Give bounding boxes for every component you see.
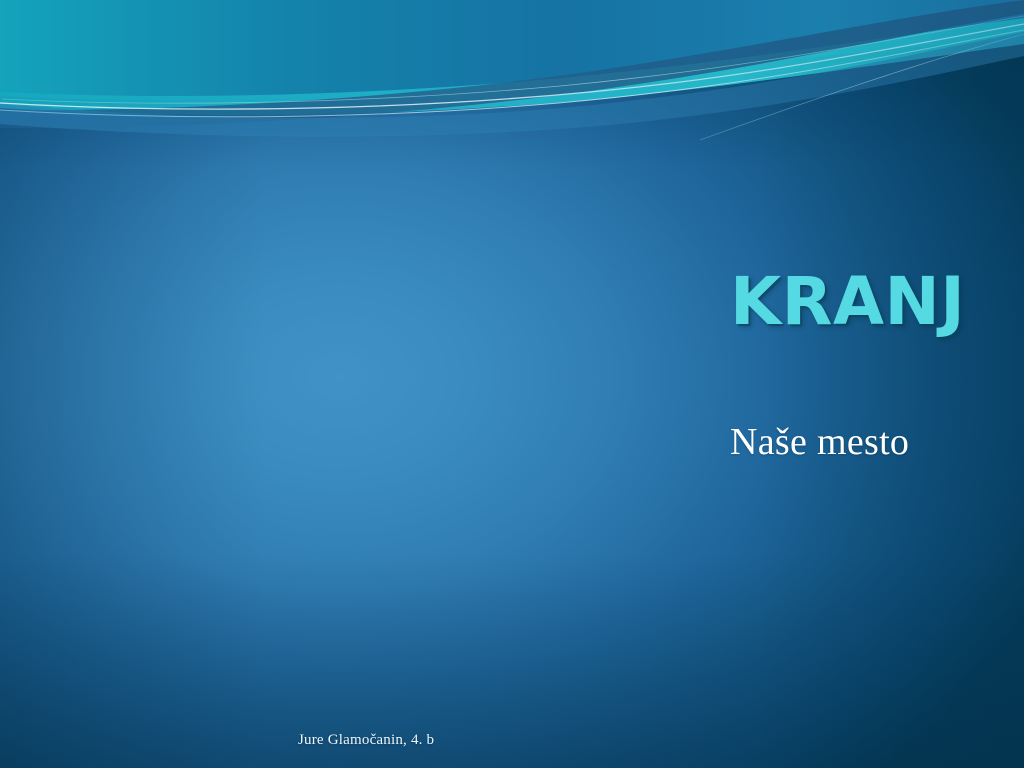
slide-background-vignette: [0, 0, 1024, 768]
slide-text-block: KRANJ Naše mesto: [730, 268, 1000, 337]
slide-title: KRANJ: [730, 268, 1000, 337]
footer-author-credit: Jure Glamočanin, 4. b: [298, 732, 434, 749]
slide-subtitle: Naše mesto: [730, 420, 909, 464]
presentation-slide: KRANJ Naše mesto Jure Glamočanin, 4. b: [0, 0, 1024, 768]
